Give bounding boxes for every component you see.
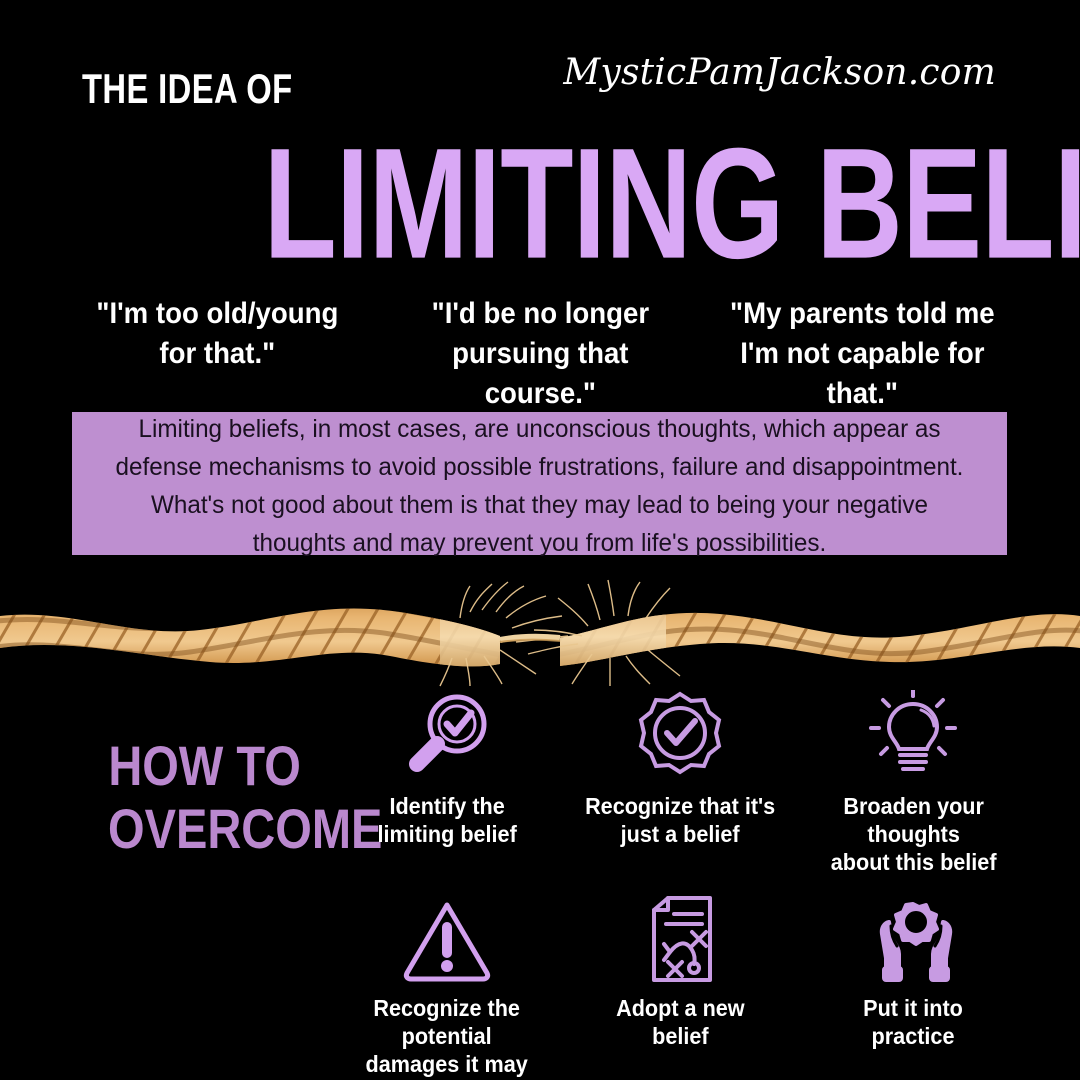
kicker-text: THE IDEA OF [82,68,293,110]
step-caption-2: Recognize that it's just a belief [585,792,775,848]
definition-box: Limiting beliefs, in most cases, are unc… [72,412,1007,555]
magnifier-check-icon [397,688,497,784]
quote-item-2: "I'd be no longer pursuing that course." [392,294,689,414]
step-caption-5: Adopt a new belief [616,994,745,1050]
rope-divider [0,578,1080,690]
step-item-4: Recognize the potential damages it may c… [330,894,563,1080]
strategy-document-icon [630,894,730,986]
definition-paragraph: Limiting beliefs, in most cases, are unc… [102,410,978,562]
step-caption-4: Recognize the potential damages it may c… [337,994,556,1080]
overcome-heading: HOW TO OVERCOME [108,735,301,860]
frayed-rope-image [0,578,1080,690]
page-title: LIMITING BELIEFS [0,128,1080,278]
page-title-text: LIMITING BELIEFS [263,124,1080,282]
warning-triangle-icon [397,894,497,986]
step-item-3: Broaden your thoughts about this belief [797,688,1030,876]
hands-gear-icon [863,894,963,986]
step-caption-6: Put it into practice [863,994,963,1050]
step-caption-1: Identify the limiting belief [377,792,516,848]
quotes-row: "I'm too old/young for that." "I'd be no… [56,294,1024,414]
site-url-watermark: MysticPamJackson.com [563,52,996,93]
badge-check-icon [630,688,730,784]
quote-item-1: "I'm too old/young for that." [69,294,366,374]
step-item-2: Recognize that it's just a belief [563,688,796,876]
step-item-5: Adopt a new belief [563,894,796,1080]
lightbulb-icon [863,688,963,784]
step-item-6: Put it into practice [797,894,1030,1080]
quote-item-3: "My parents told me I'm not capable for … [714,294,1011,414]
infographic-poster: THE IDEA OF MysticPamJackson.com LIMITIN… [0,0,1080,1080]
step-caption-3: Broaden your thoughts about this belief [804,792,1023,876]
overcome-steps-grid: Identify the limiting belief Recognize t… [330,688,1030,1080]
step-item-1: Identify the limiting belief [330,688,563,876]
